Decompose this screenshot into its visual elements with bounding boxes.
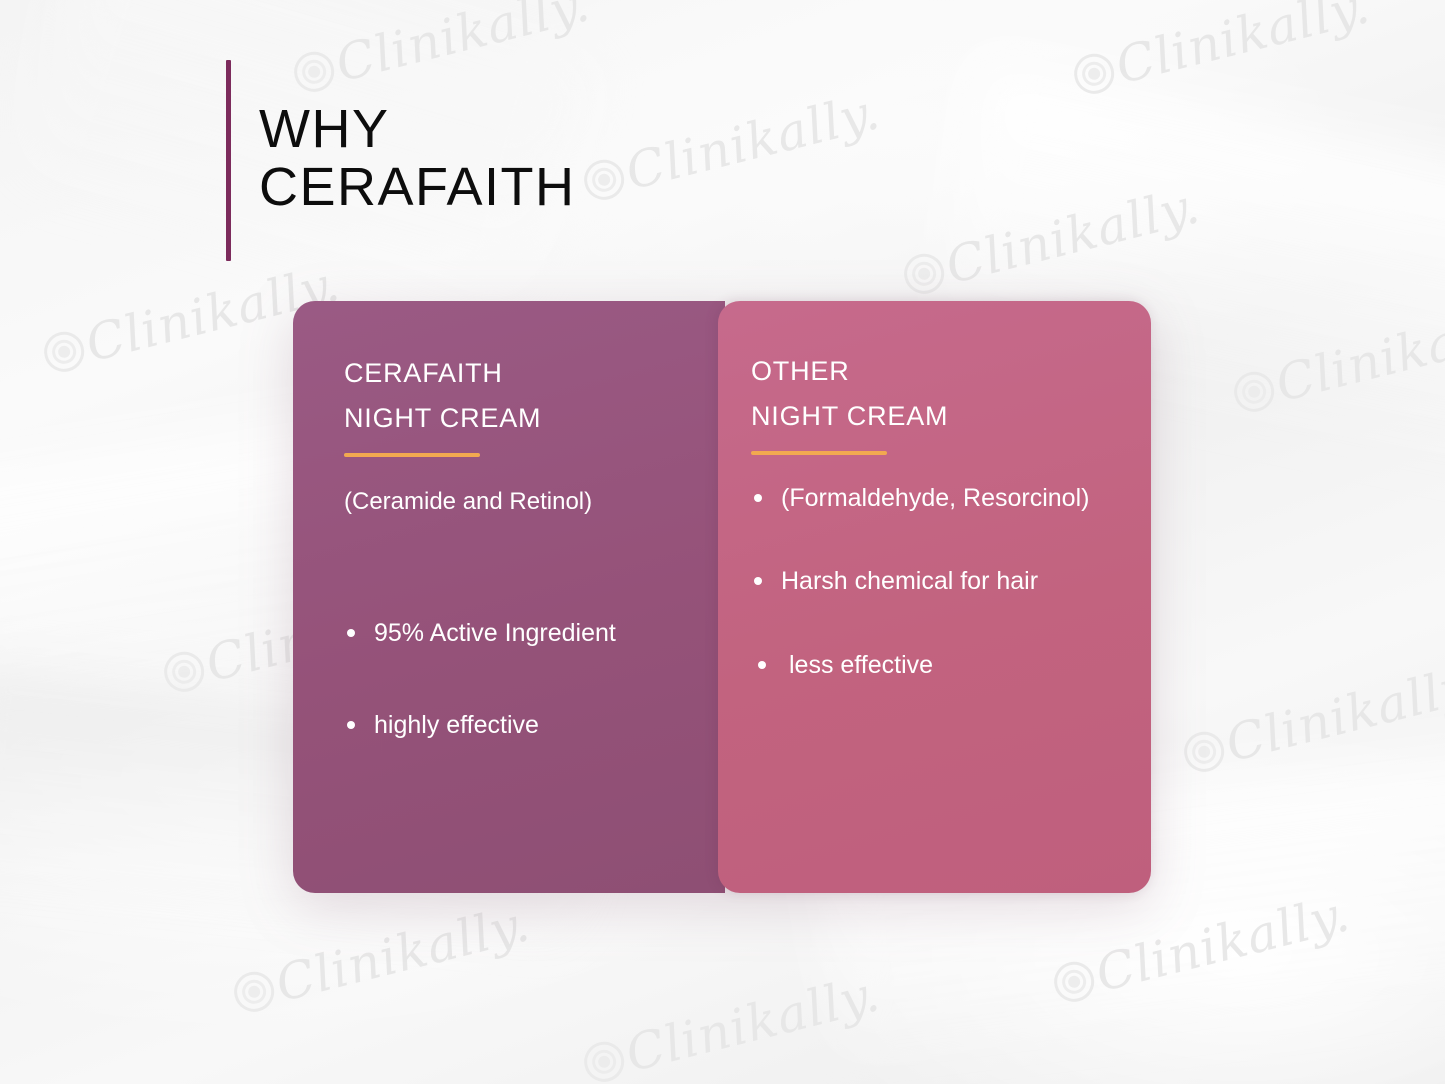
clinikally-logo-icon (160, 648, 208, 696)
clinikally-logo-icon (40, 328, 88, 376)
slide-canvas: Clinikally. Clinikally. Clinikally. Clin… (0, 0, 1445, 1084)
panel-other: OTHER NIGHT CREAM (Formaldehyde, Resorci… (718, 301, 1151, 893)
panel-cerafaith: CERAFAITH NIGHT CREAM (Ceramide and Reti… (293, 301, 725, 893)
list-item: Harsh chemical for hair (751, 564, 1121, 600)
panel-cerafaith-heading: CERAFAITH NIGHT CREAM (344, 351, 695, 441)
list-item-label: 95% Active Ingredient (374, 619, 616, 647)
panel-cerafaith-underline (344, 453, 480, 457)
clinikally-logo-icon (1050, 958, 1098, 1006)
clinikally-logo-icon (580, 156, 628, 204)
panel-other-bullets: (Formaldehyde, Resorcinol) Harsh chemica… (751, 481, 1121, 684)
list-item-label: Harsh chemical for hair (781, 567, 1038, 595)
panel-other-underline (751, 451, 887, 455)
page-title: WHY CERAFAITH (259, 96, 576, 225)
clinikally-logo-icon (900, 250, 948, 298)
clinikally-logo-icon (1230, 368, 1278, 416)
list-item-label: (Formaldehyde, Resorcinol) (781, 484, 1089, 512)
bullet-dot-icon (754, 577, 762, 585)
list-item: (Formaldehyde, Resorcinol) (751, 481, 1121, 517)
clinikally-logo-icon (1180, 728, 1228, 776)
header-accent-bar (226, 60, 231, 261)
bullet-dot-icon (758, 661, 766, 669)
list-item: highly effective (344, 708, 695, 744)
list-item: less effective (751, 648, 1121, 684)
page-header: WHY CERAFAITH (226, 60, 576, 261)
comparison-card: CERAFAITH NIGHT CREAM (Ceramide and Reti… (293, 301, 1151, 893)
panel-other-heading: OTHER NIGHT CREAM (751, 349, 1121, 439)
list-item-label: highly effective (374, 711, 539, 739)
list-item: 95% Active Ingredient (344, 616, 695, 652)
clinikally-logo-icon (580, 1038, 628, 1084)
panel-cerafaith-bullets: 95% Active Ingredient highly effective (344, 616, 695, 743)
bullet-dot-icon (347, 629, 355, 637)
panel-cerafaith-subtitle: (Ceramide and Retinol) (344, 485, 695, 519)
list-item-label: less effective (789, 651, 933, 679)
bullet-dot-icon (347, 721, 355, 729)
clinikally-logo-icon (1070, 50, 1118, 98)
clinikally-logo-icon (230, 968, 278, 1016)
bullet-dot-icon (754, 494, 762, 502)
